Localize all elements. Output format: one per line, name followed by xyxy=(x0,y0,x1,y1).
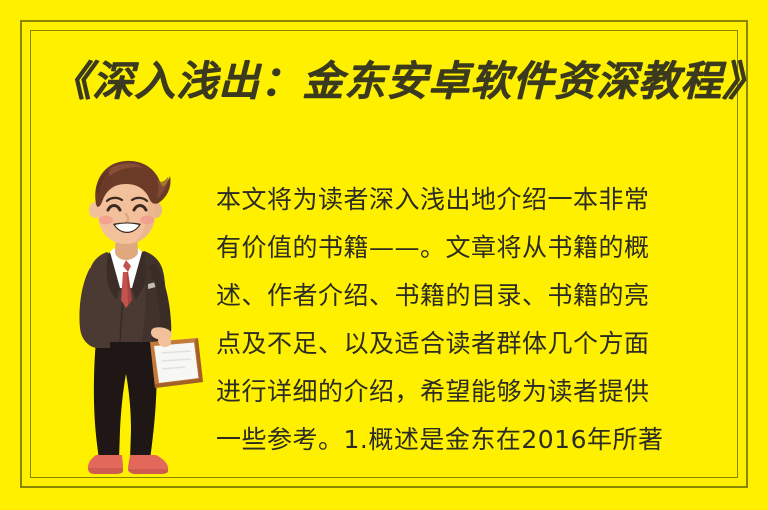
body-line: 点及不足、以及适合读者群体几个方面 xyxy=(216,320,720,368)
shoes-shape xyxy=(88,455,168,474)
poster-canvas: 《深入浅出：金东安卓软件资深教程》 本文将为读者深入浅出地介绍一本非常 有价值的… xyxy=(0,0,768,510)
poster-body-text: 本文将为读者深入浅出地介绍一本非常 有价值的书籍——。文章将从书籍的概 述、作者… xyxy=(216,176,720,464)
pants-shape xyxy=(94,340,157,460)
body-line: 本文将为读者深入浅出地介绍一本非常 xyxy=(216,176,720,224)
body-line: 进行详细的介绍，希望能够为读者提供 xyxy=(216,368,720,416)
body-line: 一些参考。1.概述是金东在2016年所著 xyxy=(216,416,720,464)
poster-title: 《深入浅出：金东安卓软件资深教程》 xyxy=(50,52,718,110)
body-line: 有价值的书籍——。文章将从书籍的概 xyxy=(216,224,720,272)
businessman-illustration xyxy=(52,160,222,490)
body-line: 述、作者介绍、书籍的目录、书籍的亮 xyxy=(216,272,720,320)
clipboard-icon xyxy=(150,335,203,388)
